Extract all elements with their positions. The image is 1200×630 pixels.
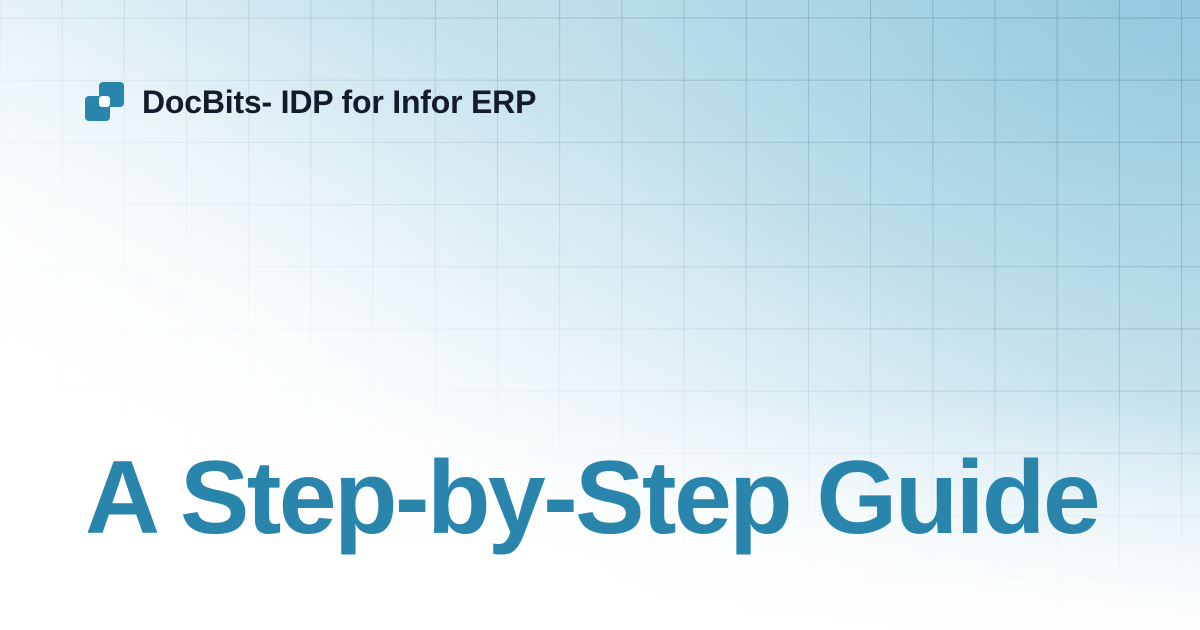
banner-content: DocBits- IDP for Infor ERP A Step-by-Ste… <box>0 0 1200 630</box>
brand-name-text: DocBits- IDP for Infor ERP <box>142 86 536 118</box>
page-title: A Step-by-Step Guide <box>85 446 1098 550</box>
docbits-logo-icon <box>85 82 124 121</box>
brand-lockup: DocBits- IDP for Infor ERP <box>85 82 536 121</box>
promo-banner: DocBits- IDP for Infor ERP A Step-by-Ste… <box>0 0 1200 630</box>
logo-overlap-notch <box>99 96 110 107</box>
